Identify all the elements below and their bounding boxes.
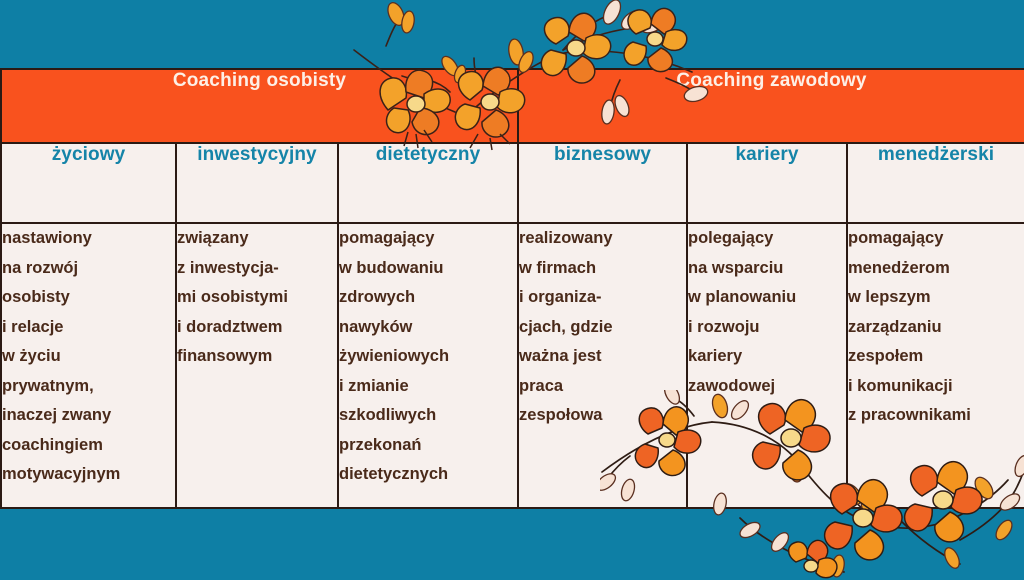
table-head: Coaching osobisty Coaching zawodowy życi… [1, 69, 1024, 223]
cell-description-kariery: polegający na wsparciu w planowaniu i ro… [687, 223, 847, 508]
group-header-professional: Coaching zawodowy [518, 69, 1024, 143]
group-header-professional-label: Coaching zawodowy [519, 70, 1024, 92]
table-row: nastawiony na rozwój osobisty i relacje … [1, 223, 1024, 508]
cell-description-dietetyczny: pomagający w budowaniu zdrowych nawyków … [338, 223, 518, 508]
cell-description-biznesowy: realizowany w firmach i organiza- cjach,… [518, 223, 687, 508]
coaching-types-table: Coaching osobisty Coaching zawodowy życi… [0, 68, 1024, 509]
column-header-menedzerski: menedżerski [847, 143, 1024, 223]
cell-description-menedzerski: pomagający menedżerom w lepszym zarządza… [847, 223, 1024, 508]
cell-description-inwestycyjny: związany z inwestycja- mi osobistymi i d… [176, 223, 338, 508]
column-header-biznesowy: biznesowy [518, 143, 687, 223]
column-header-row: życiowy inwestycyjny dietetyczny bizneso… [1, 143, 1024, 223]
group-header-personal: Coaching osobisty [1, 69, 518, 143]
column-header-zyciowy: życiowy [1, 143, 176, 223]
cell-description-zyciowy: nastawiony na rozwój osobisty i relacje … [1, 223, 176, 508]
column-header-dietetyczny: dietetyczny [338, 143, 518, 223]
table-body: nastawiony na rozwój osobisty i relacje … [1, 223, 1024, 508]
group-header-row: Coaching osobisty Coaching zawodowy [1, 69, 1024, 143]
column-header-inwestycyjny: inwestycyjny [176, 143, 338, 223]
group-header-personal-label: Coaching osobisty [2, 70, 517, 92]
slide-canvas: Coaching osobisty Coaching zawodowy życi… [0, 0, 1024, 576]
column-header-kariery: kariery [687, 143, 847, 223]
coaching-types-table-wrapper: Coaching osobisty Coaching zawodowy życi… [0, 68, 1024, 509]
